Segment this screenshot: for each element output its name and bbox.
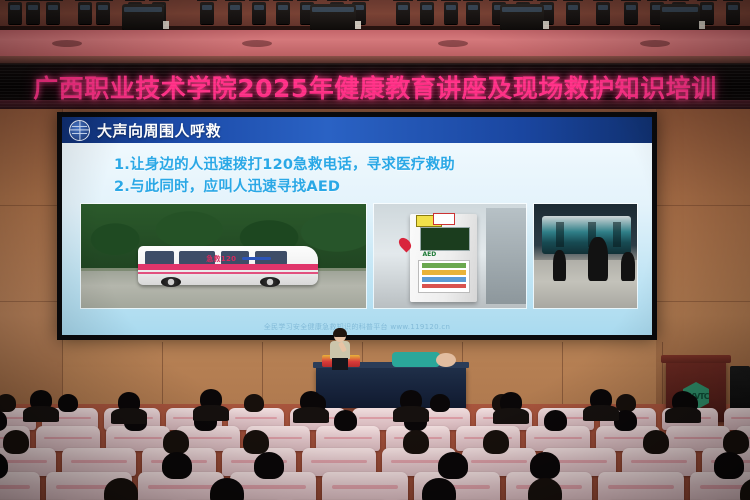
ceiling-vent <box>438 40 468 47</box>
stage-light <box>8 2 22 24</box>
stage-light <box>726 2 740 24</box>
audience-member <box>438 452 468 479</box>
audience-member <box>0 394 16 412</box>
slide-bullets: 1.让身边的人迅速拨打120急救电话，寻求医疗救助 2.与此同时，应叫人迅速寻找… <box>62 143 652 199</box>
stage-light <box>46 2 60 24</box>
led-banner-text: 广西职业技术学院2025年健康教育讲座及现场救护知识培训 <box>33 69 717 105</box>
audience-member <box>243 430 269 454</box>
audience-member-torso <box>23 406 59 422</box>
stage-light <box>26 2 40 24</box>
wall-panel <box>0 109 63 206</box>
stage-light <box>420 2 434 24</box>
subway-platform-photo <box>533 203 638 309</box>
projection-screen: 大声向周围人呼救 1.让身边的人迅速拨打120急救电话，寻求医疗救助 2.与此同… <box>57 112 657 340</box>
audience-member-torso <box>665 407 701 423</box>
lecture-hall-scene: 广西职业技术学院2025年健康教育讲座及现场救护知识培训 大声向周围人呼救 1.… <box>0 0 750 500</box>
stage-light <box>624 2 638 24</box>
stage-light <box>228 2 242 24</box>
stage-light <box>466 2 480 24</box>
podium-top <box>661 355 731 363</box>
audience-member <box>530 452 560 479</box>
audience-member <box>254 452 284 479</box>
stage-light <box>96 2 110 24</box>
wall-panel <box>656 205 750 302</box>
stage-light-large <box>500 4 544 30</box>
audience-member <box>334 410 357 431</box>
audience-member-torso <box>193 405 229 421</box>
stage-light <box>252 2 266 24</box>
stage-light <box>78 2 92 24</box>
presenter <box>328 330 352 370</box>
stage-light <box>396 2 410 24</box>
audience-member <box>3 430 29 454</box>
audience-member <box>544 410 567 431</box>
audience-member <box>430 394 450 412</box>
cpr-manikin <box>392 352 458 368</box>
audience-seat <box>0 472 40 500</box>
ceiling-soffit <box>0 30 750 58</box>
audience-member <box>714 452 744 479</box>
audience-member <box>58 394 78 412</box>
led-banner: 广西职业技术学院2025年健康教育讲座及现场救护知识培训 <box>0 63 750 111</box>
audience-member <box>244 394 264 412</box>
slide: 大声向周围人呼救 1.让身边的人迅速拨打120急救电话，寻求医疗救助 2.与此同… <box>62 117 652 335</box>
aed-badge: AED <box>423 251 437 258</box>
ambulance-badge: 急救120 <box>206 254 236 264</box>
wall-panel <box>656 109 750 206</box>
audience-member <box>104 478 138 500</box>
slide-title: 大声向周围人呼救 <box>97 120 221 141</box>
stage-light <box>566 2 580 24</box>
audience-seat <box>322 472 408 500</box>
ceiling-vent <box>640 40 670 47</box>
audience-member <box>723 430 749 454</box>
slide-bullet-2: 2.与此同时，应叫人迅速寻找AED <box>114 176 652 198</box>
wall-panel <box>0 205 63 302</box>
audience-member-torso <box>493 408 529 424</box>
audience <box>0 392 750 500</box>
audience-seat <box>598 472 684 500</box>
globe-emblem-icon <box>69 120 90 141</box>
audience-member <box>483 430 509 454</box>
stage-light-large <box>122 4 164 30</box>
audience-member-torso <box>293 407 329 423</box>
audience-member <box>163 430 189 454</box>
audience-member <box>162 452 192 479</box>
ceiling-vent <box>52 40 82 47</box>
slide-footer: 全民学习安全健康急救知识的科普平台 www.119120.cn <box>62 322 652 332</box>
stage-light-large <box>660 4 700 30</box>
stage-light-large <box>310 4 356 30</box>
audience-member-torso <box>393 406 429 422</box>
wall-panel <box>0 301 63 405</box>
ceiling-vent <box>242 40 272 47</box>
slide-photos: 急救120 AED <box>80 203 638 309</box>
audience-member <box>643 430 669 454</box>
stage-light <box>596 2 610 24</box>
slide-bullet-1: 1.让身边的人迅速拨打120急救电话，寻求医疗救助 <box>114 154 652 176</box>
audience-member-torso <box>111 408 147 424</box>
audience-member <box>403 430 429 454</box>
stage-light <box>200 2 214 24</box>
aed-cabinet-photo: AED <box>373 203 527 309</box>
slide-title-bar: 大声向周围人呼救 <box>62 117 652 143</box>
stage-light <box>276 2 290 24</box>
audience-member-torso <box>583 405 619 421</box>
ambulance-photo: 急救120 <box>80 203 367 309</box>
stage-light <box>444 2 458 24</box>
